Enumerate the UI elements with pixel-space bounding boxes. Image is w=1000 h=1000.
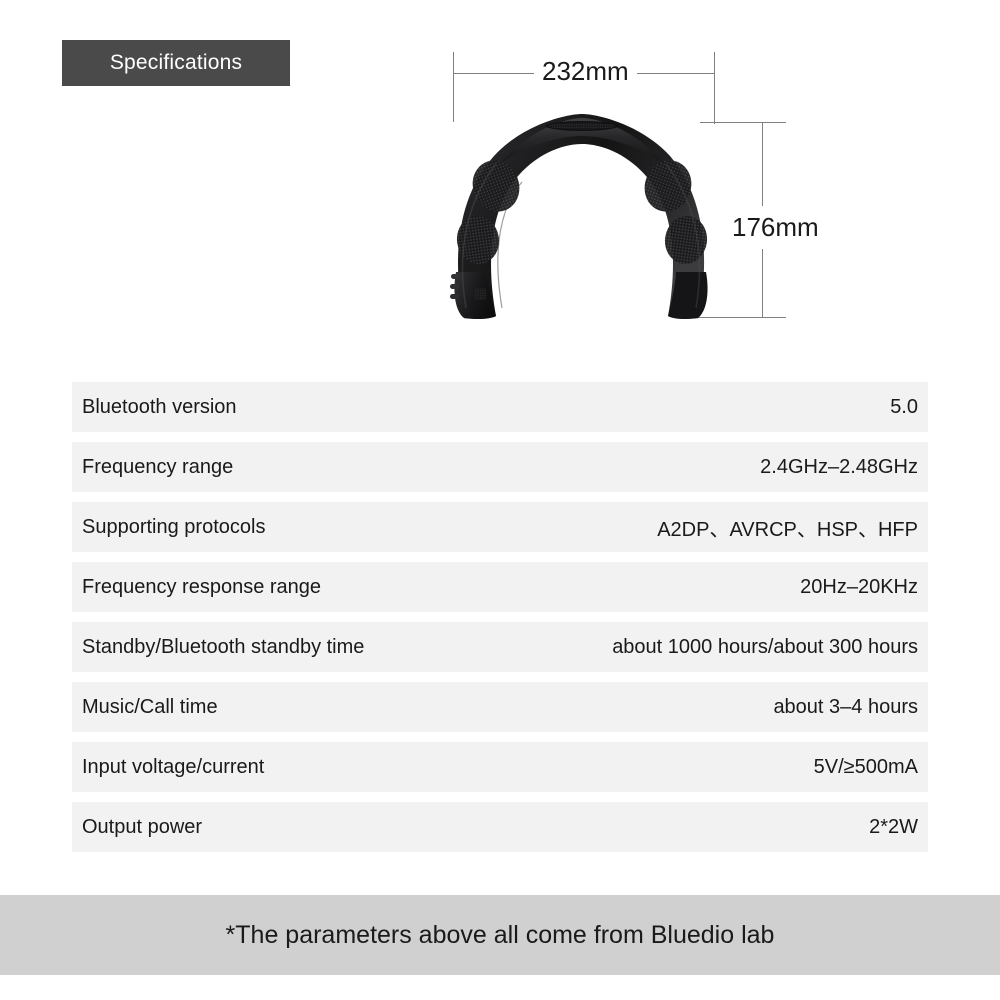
footer-note-text: *The parameters above all come from Blue… [226, 921, 775, 950]
spec-value: about 1000 hours/about 300 hours [612, 636, 918, 659]
table-row: Standby/Bluetooth standby time about 100… [72, 622, 928, 672]
table-row: Frequency range 2.4GHz–2.48GHz [72, 442, 928, 492]
spec-value: 5.0 [890, 396, 918, 419]
spec-key: Standby/Bluetooth standby time [82, 636, 364, 659]
specifications-table: Bluetooth version 5.0 Frequency range 2.… [72, 382, 928, 852]
spec-value: 2*2W [869, 816, 918, 839]
brand-label-texture [548, 123, 616, 130]
spec-value: 5V/≥500mA [814, 756, 918, 779]
spec-key: Supporting protocols [82, 516, 265, 539]
spec-key: Frequency range [82, 456, 233, 479]
neckband-speaker-image [446, 112, 716, 320]
spec-value: 2.4GHz–2.48GHz [760, 456, 918, 479]
table-row: Supporting protocols A2DP、AVRCP、HSP、HFP [72, 502, 928, 552]
table-row: Frequency response range 20Hz–20KHz [72, 562, 928, 612]
spec-key: Input voltage/current [82, 756, 264, 779]
spec-key: Music/Call time [82, 696, 218, 719]
product-dimension-figure: 232mm 176mm [0, 0, 1000, 360]
footer-note-band: *The parameters above all come from Blue… [0, 895, 1000, 975]
spec-value: about 3–4 hours [773, 696, 918, 719]
speaker-body [458, 114, 704, 319]
table-row: Music/Call time about 3–4 hours [72, 682, 928, 732]
width-dimension-label: 232mm [534, 56, 637, 87]
spec-value: 20Hz–20KHz [800, 576, 918, 599]
volume-up-button [451, 274, 460, 279]
play-pause-button [450, 284, 459, 289]
table-row: Bluetooth version 5.0 [72, 382, 928, 432]
height-dimension-label: 176mm [728, 206, 823, 249]
spec-key: Output power [82, 816, 202, 839]
microphone-grille [474, 288, 486, 300]
spec-key: Frequency response range [82, 576, 321, 599]
spec-value: A2DP、AVRCP、HSP、HFP [657, 513, 918, 542]
table-row: Input voltage/current 5V/≥500mA [72, 742, 928, 792]
table-row: Output power 2*2W [72, 802, 928, 852]
spec-key: Bluetooth version [82, 396, 237, 419]
volume-down-button [450, 294, 459, 299]
